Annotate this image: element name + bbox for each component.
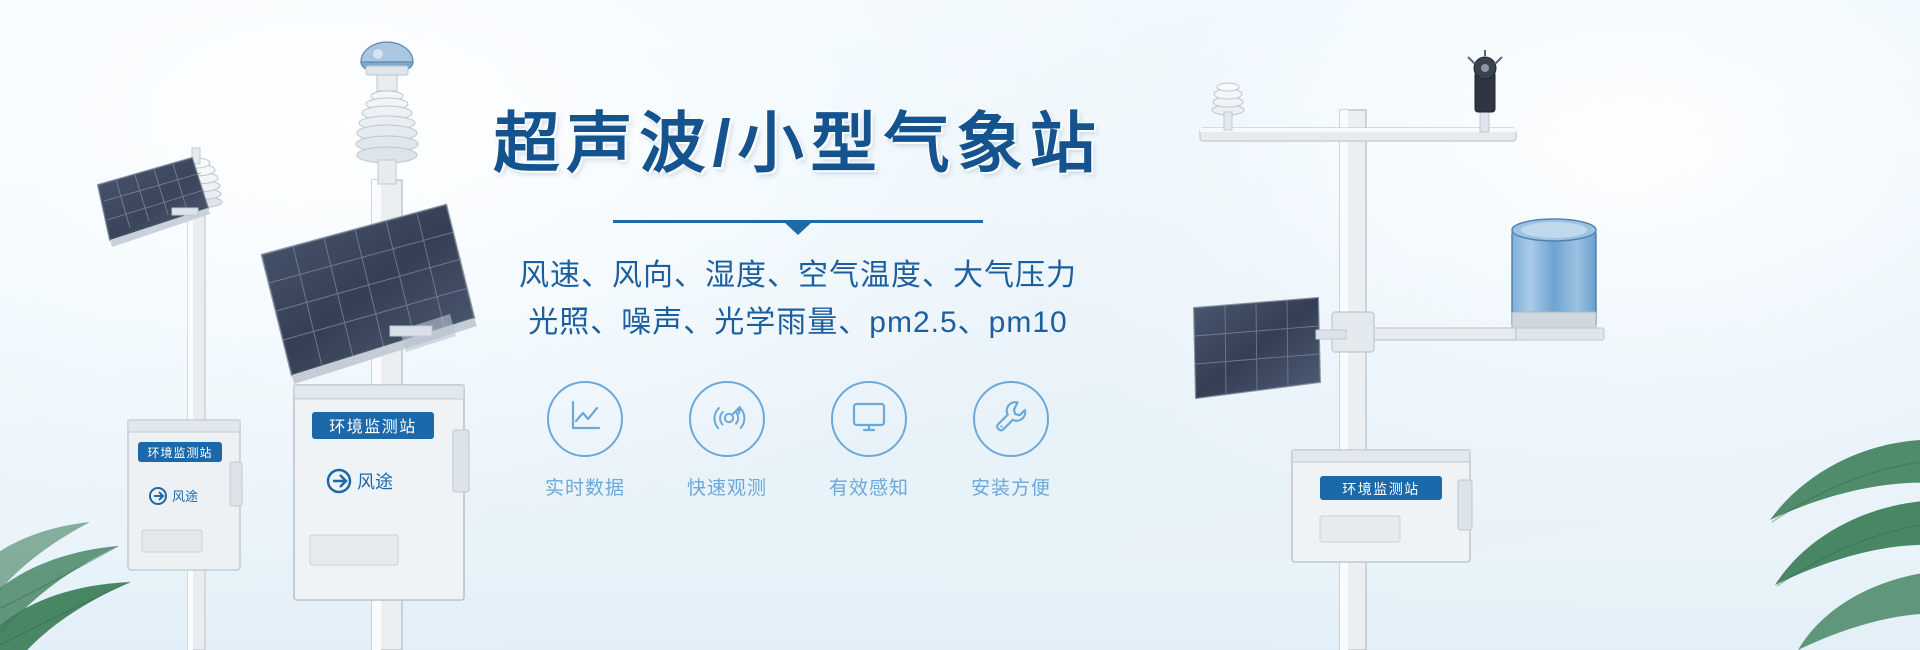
feature-circle <box>831 381 907 457</box>
wrench-icon <box>990 395 1032 442</box>
feature-list: 实时数据 快 <box>448 381 1148 500</box>
weather-station-left: 环境监测站 风途 <box>80 90 320 650</box>
feature-circle <box>689 381 765 457</box>
feature-circle <box>547 381 623 457</box>
feature-label: 安装方便 <box>971 473 1051 500</box>
radar-signal-icon <box>706 395 748 442</box>
svg-text:环境监测站: 环境监测站 <box>1342 481 1420 497</box>
product-banner: 环境监测站 风途 <box>0 0 1920 650</box>
line-chart-icon <box>565 396 605 441</box>
subtitle-block: 风速、风向、湿度、空气温度、大气压力 光照、噪声、光学雨量、pm2.5、pm10 <box>448 252 1148 347</box>
weather-station-right: 环境监测站 <box>1180 50 1630 650</box>
title-divider <box>613 220 983 224</box>
feature-item-fast-observation[interactable]: 快速观测 <box>687 381 767 500</box>
svg-text:风途: 风途 <box>172 489 198 504</box>
feature-item-realtime-data[interactable]: 实时数据 <box>545 381 625 500</box>
page-title: 超声波/小型气象站 <box>448 110 1148 176</box>
subtitle-line-1: 风速、风向、湿度、空气温度、大气压力 <box>448 252 1148 299</box>
feature-label: 有效感知 <box>829 473 909 500</box>
svg-text:环境监测站: 环境监测站 <box>329 417 417 436</box>
subtitle-line-2: 光照、噪声、光学雨量、pm2.5、pm10 <box>448 299 1148 346</box>
feature-item-easy-install[interactable]: 安装方便 <box>971 381 1051 500</box>
feature-circle <box>973 381 1049 457</box>
svg-text:风途: 风途 <box>357 472 393 492</box>
feature-label: 快速观测 <box>687 473 767 500</box>
banner-content: 超声波/小型气象站 风速、风向、湿度、空气温度、大气压力 光照、噪声、光学雨量、… <box>448 110 1148 500</box>
feature-item-effective-sensing[interactable]: 有效感知 <box>829 381 909 500</box>
leaf-decoration-right <box>1630 380 1920 650</box>
leaf-decoration-left <box>0 410 220 650</box>
feature-label: 实时数据 <box>545 473 625 500</box>
monitor-screen-icon <box>848 395 890 442</box>
svg-text:环境监测站: 环境监测站 <box>147 445 212 460</box>
down-triangle-icon <box>784 222 812 235</box>
